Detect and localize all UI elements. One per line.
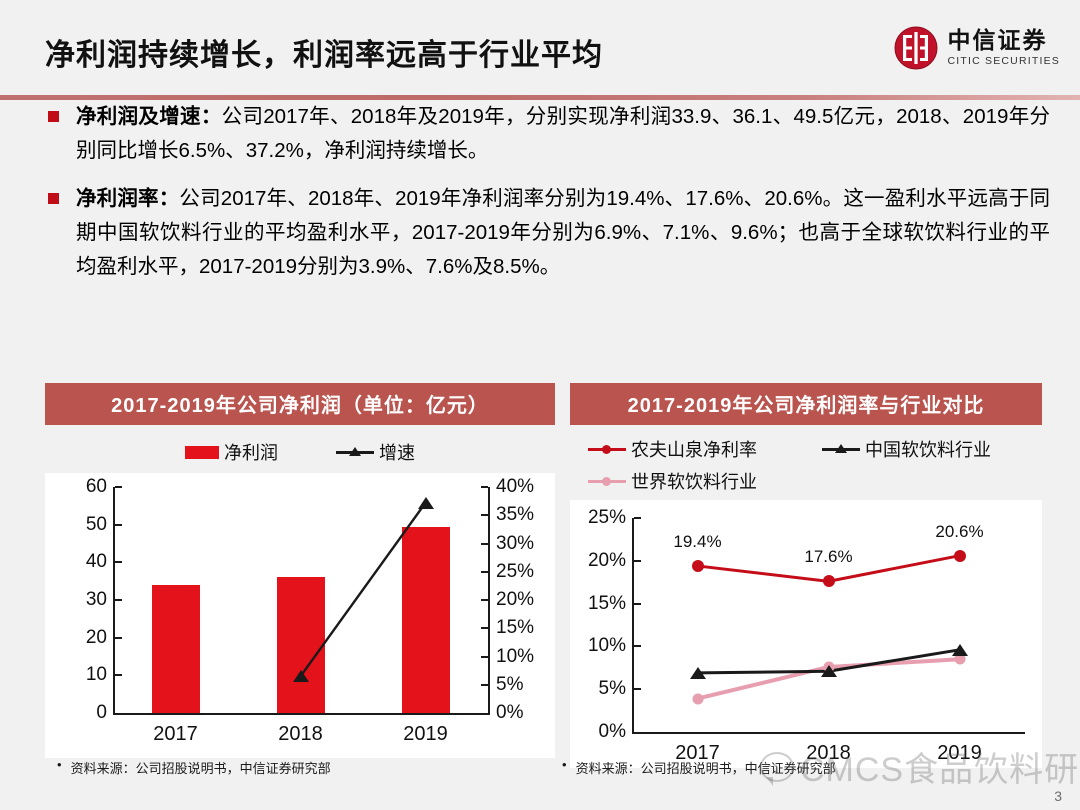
chart-panel-net-margin: 2017-2019年公司净利润率与行业对比 农夫山泉净利率 中国软饮料行业 世界… bbox=[570, 383, 1042, 768]
bullet-item: 净利润率：公司2017年、2018年、2019年净利润率分别为19.4%、17.… bbox=[0, 182, 1080, 284]
marker-中国软饮料行业-2017 bbox=[690, 667, 706, 679]
bullet-lead: 净利润率： bbox=[76, 187, 179, 210]
legend-item-nongfu-margin[interactable]: 农夫山泉净利率 bbox=[588, 436, 788, 462]
data-label-2019: 20.6% bbox=[935, 522, 983, 542]
source-bullet-icon: • bbox=[562, 758, 567, 771]
chart-legend-net-margin: 农夫山泉净利率 中国软饮料行业 世界软饮料行业 bbox=[570, 436, 1042, 494]
data-label-2017: 19.4% bbox=[673, 532, 721, 552]
legend-line-triangle-icon bbox=[336, 446, 374, 458]
logo-text-en: CITIC SECURITIES bbox=[947, 56, 1060, 67]
chart-legend-net-profit: 净利润 增速 bbox=[45, 439, 555, 465]
logo-text-cn: 中信证券 bbox=[947, 29, 1060, 52]
legend-line-dot-icon bbox=[588, 475, 626, 487]
legend-label: 净利润 bbox=[224, 439, 278, 465]
slide-body: 净利润及增速：公司2017年、2018年及2019年，分别实现净利润33.9、3… bbox=[0, 100, 1080, 298]
legend-label: 农夫山泉净利率 bbox=[631, 436, 757, 462]
bullet-item: 净利润及增速：公司2017年、2018年及2019年，分别实现净利润33.9、3… bbox=[0, 100, 1080, 168]
legend-item-china-softdrink[interactable]: 中国软饮料行业 bbox=[822, 436, 1022, 462]
legend-item-net-profit[interactable]: 净利润 bbox=[185, 439, 278, 465]
chart-title-net-margin: 2017-2019年公司净利润率与行业对比 bbox=[570, 383, 1042, 425]
source-text: 资料来源：公司招股说明书，中信证券研究部 bbox=[71, 758, 331, 777]
legend-label: 世界软饮料行业 bbox=[631, 468, 757, 494]
bullet-text: 净利润及增速：公司2017年、2018年及2019年，分别实现净利润33.9、3… bbox=[76, 100, 1050, 168]
citic-securities-logo: 中信证券 CITIC SECURITIES bbox=[894, 22, 1060, 74]
marker-农夫山泉净利率-2019 bbox=[954, 550, 966, 562]
chart-panel-net-profit: 2017-2019年公司净利润（单位：亿元） 净利润 增速 0102030405… bbox=[45, 383, 555, 758]
source-text: 资料来源：公司招股说明书，中信证券研究部 bbox=[576, 758, 836, 777]
source-bullet-icon: • bbox=[57, 758, 62, 771]
bullet-body: 公司2017年、2018年及2019年，分别实现净利润33.9、36.1、49.… bbox=[76, 105, 1050, 162]
slide-header: 净利润持续增长，利润率远高于行业平均 中信证券 CITIC SECURITIES bbox=[0, 0, 1080, 96]
citic-circle-logo-icon bbox=[894, 26, 938, 70]
source-note-left: • 资料来源：公司招股说明书，中信证券研究部 bbox=[57, 758, 537, 777]
legend-line-triangle-icon bbox=[822, 443, 860, 455]
marker-农夫山泉净利率-2017 bbox=[692, 560, 704, 572]
page-number: 3 bbox=[1054, 788, 1062, 804]
legend-item-world-softdrink[interactable]: 世界软饮料行业 bbox=[588, 468, 788, 494]
marker-中国软饮料行业-2019 bbox=[952, 644, 968, 656]
page-title: 净利润持续增长，利润率远高于行业平均 bbox=[45, 30, 603, 74]
legend-label: 中国软饮料行业 bbox=[865, 436, 991, 462]
growth-marker-2019 bbox=[418, 497, 434, 509]
bullet-body: 公司2017年、2018年、2019年净利润率分别为19.4%、17.6%、20… bbox=[76, 187, 1050, 278]
growth-marker-2018 bbox=[293, 670, 309, 682]
bullet-text: 净利润率：公司2017年、2018年、2019年净利润率分别为19.4%、17.… bbox=[76, 182, 1050, 284]
marker-世界软饮料行业-2017 bbox=[692, 693, 703, 704]
data-label-2018: 17.6% bbox=[804, 547, 852, 567]
growth-rate-line bbox=[45, 473, 555, 758]
legend-label: 增速 bbox=[379, 439, 415, 465]
chart-title-net-profit: 2017-2019年公司净利润（单位：亿元） bbox=[45, 383, 555, 425]
plot-area-net-margin: 0%5%10%15%20%25%20172018201919.4%17.6%20… bbox=[570, 500, 1042, 768]
marker-农夫山泉净利率-2018 bbox=[823, 575, 835, 587]
marker-中国软饮料行业-2018 bbox=[821, 665, 837, 677]
legend-bar-swatch-icon bbox=[185, 446, 219, 459]
plot-area-net-profit: 01020304050600%5%10%15%20%25%30%35%40%20… bbox=[45, 473, 555, 758]
source-note-right: • 资料来源：公司招股说明书，中信证券研究部 bbox=[562, 758, 1032, 777]
bullet-square-icon bbox=[48, 111, 59, 122]
bullet-lead: 净利润及增速： bbox=[76, 105, 222, 128]
legend-item-growth-rate[interactable]: 增速 bbox=[336, 439, 415, 465]
legend-line-dot-icon bbox=[588, 443, 626, 455]
bullet-square-icon bbox=[48, 193, 59, 204]
